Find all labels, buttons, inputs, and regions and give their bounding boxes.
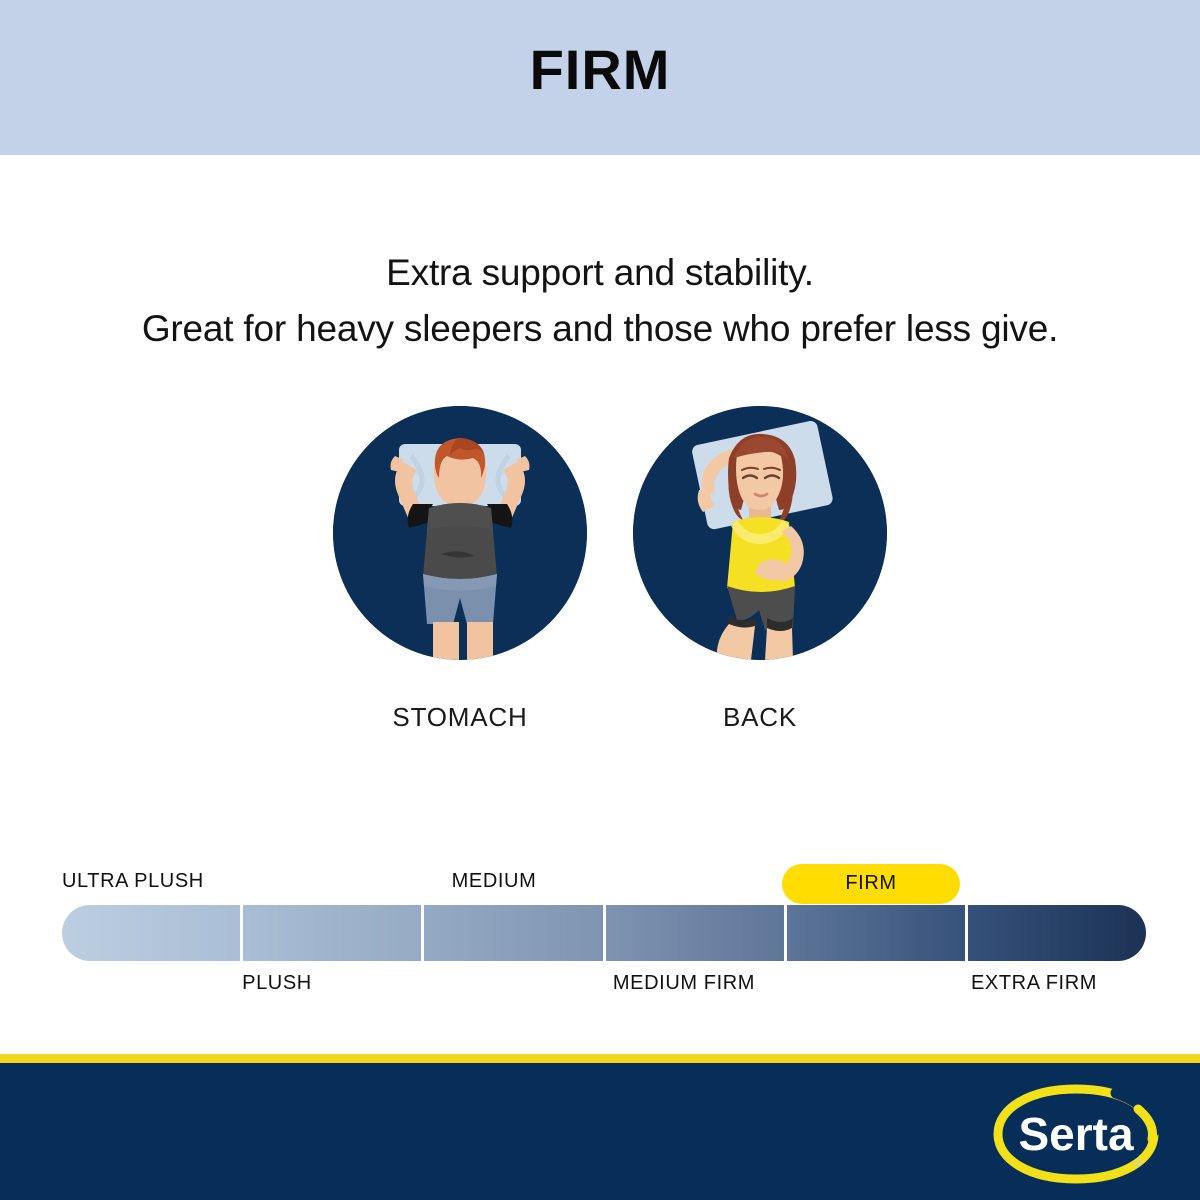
scale-segment-medium-firm[interactable] [606,905,787,961]
footer-accent-rule [0,1054,1200,1063]
sleep-position-back: BACK [630,406,890,733]
figure-caption-back: BACK [630,702,890,733]
sleep-position-figures: STOMACH [0,406,1200,756]
stomach-sleeper-illustration [333,406,587,660]
serta-wordmark: Serta [1018,1108,1133,1160]
scale-segment-plush[interactable] [243,905,424,961]
scale-segment-ultra-plush[interactable] [62,905,243,961]
scale-label-ultra-plush[interactable]: ULTRA PLUSH [62,870,204,893]
scale-segment-extra-firm[interactable] [968,905,1146,961]
page-title: FIRM [0,42,1200,98]
serta-logo[interactable]: Serta ® [988,1081,1164,1187]
subtitle: Extra support and stability. Great for h… [0,245,1200,356]
firmness-scale: ULTRA PLUSH MEDIUM FIRM PLUSH MEDIUM FIR… [62,862,1146,1007]
scale-label-extra-firm[interactable]: EXTRA FIRM [934,972,1134,995]
firmness-scale-bar[interactable] [62,905,1146,961]
figure-caption-stomach: STOMACH [330,702,590,733]
scale-segment-medium[interactable] [424,905,605,961]
scale-label-medium-firm[interactable]: MEDIUM FIRM [584,972,784,995]
back-sleeper-illustration [633,406,887,660]
infographic-page: FIRM Extra support and stability. Great … [0,0,1200,1200]
scale-label-medium[interactable]: MEDIUM [404,870,584,893]
subtitle-line-2: Great for heavy sleepers and those who p… [0,301,1200,357]
scale-segment-firm[interactable] [787,905,968,961]
scale-label-plush[interactable]: PLUSH [187,972,367,995]
subtitle-line-1: Extra support and stability. [0,245,1200,301]
registered-trademark-icon: ® [1134,1158,1142,1170]
sleep-position-stomach: STOMACH [330,406,590,733]
scale-label-firm-selected[interactable]: FIRM [782,864,960,904]
